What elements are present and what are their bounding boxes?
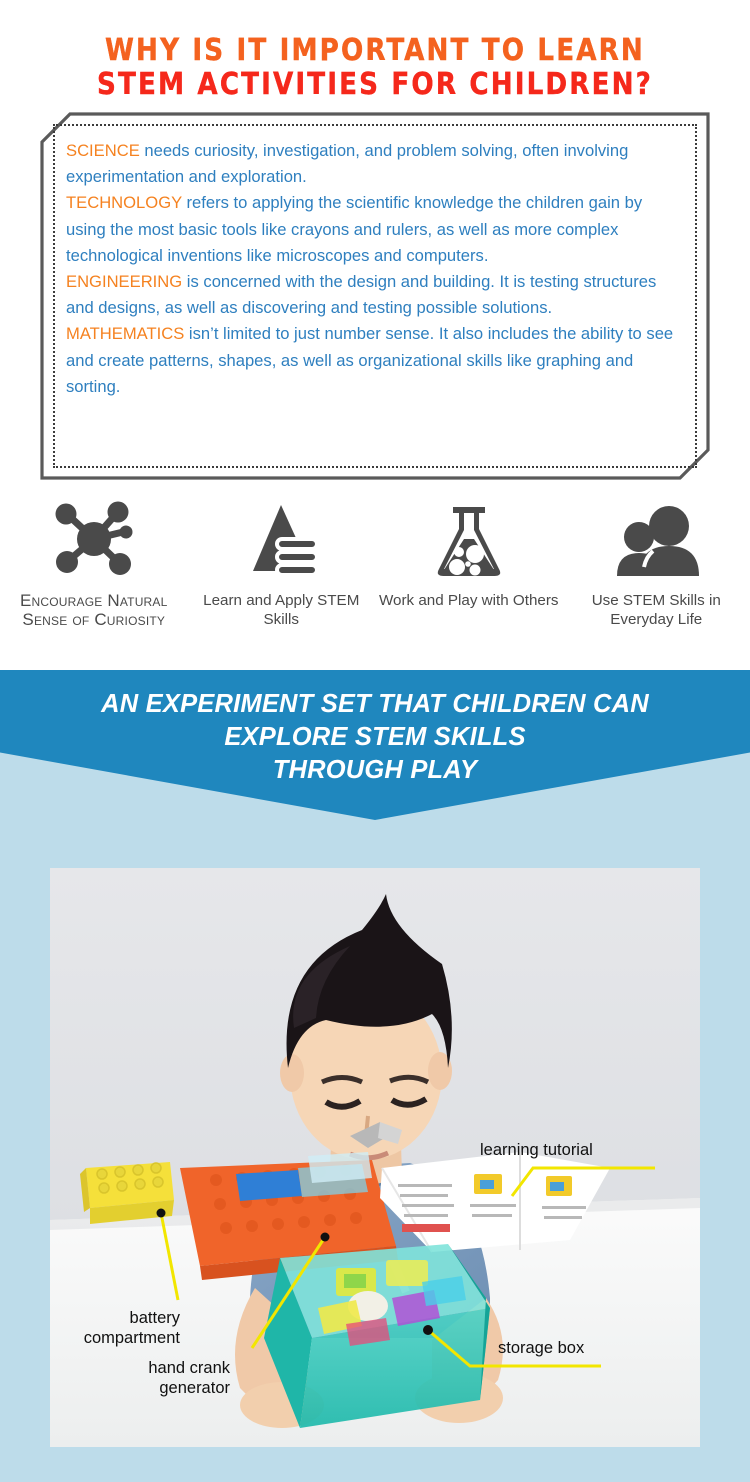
molecule-icon [51,497,137,579]
banner-heading-line-2: EXPLORE STEM SKILLS [0,721,750,754]
feature-work-play-label: Work and Play with Others [379,591,559,610]
callout-label-hand-crank-generator: hand crank generator [70,1358,230,1398]
stem-product-infographic: WHY IS IT IMPORTANT TO LEARN STEM ACTIVI… [0,0,750,1482]
feature-encourage-curiosity: Encourage Natural Sense of Curiosity [0,497,188,629]
feature-everyday-life: Use STEM Skills in Everyday Life [563,497,750,629]
banner-heading-line-3: THROUGH PLAY [0,754,750,787]
definition-science: SCIENCE needs curiosity, investigation, … [66,138,685,190]
feature-work-play: Work and Play with Others [375,497,563,629]
feature-learn-apply: Learn and Apply STEM Skills [188,497,376,629]
feature-everyday-life-label: Use STEM Skills in Everyday Life [563,591,750,629]
page-title-line-2: STEM ACTIVITIES FOR CHILDREN? [11,68,739,102]
feature-learn-apply-label: Learn and Apply STEM Skills [188,591,376,629]
stem-definitions-box: SCIENCE needs curiosity, investigation, … [40,112,710,480]
feature-icon-row: Encourage Natural Sense of Curiosity Lea… [0,497,750,629]
definition-technology: TECHNOLOGY refers to applying the scient… [66,190,685,269]
infobox-inner-dotted-border: SCIENCE needs curiosity, investigation, … [53,124,697,468]
definition-technology-keyword: TECHNOLOGY [66,193,182,212]
banner-heading-line-1: AN EXPERIMENT SET THAT CHILDREN CAN [0,688,750,721]
banner-heading: AN EXPERIMENT SET THAT CHILDREN CAN EXPL… [0,688,750,787]
callout-label-learning-tutorial: learning tutorial [480,1140,593,1160]
definition-engineering-keyword: ENGINEERING [66,272,182,291]
definition-mathematics: MATHEMATICS isn’t limited to just number… [66,321,685,400]
definition-science-keyword: SCIENCE [66,141,140,160]
definition-engineering: ENGINEERING is concerned with the design… [66,269,685,321]
callout-label-storage-box: storage box [498,1338,584,1358]
definition-science-body: needs curiosity, investigation, and prob… [66,141,628,186]
definition-mathematics-keyword: MATHEMATICS [66,324,184,343]
flask-icon [430,497,508,579]
page-title-line-1: WHY IS IT IMPORTANT TO LEARN [11,34,739,68]
page-title: WHY IS IT IMPORTANT TO LEARN STEM ACTIVI… [0,34,750,102]
book-stack-icon [241,497,321,579]
callout-label-battery-compartment: battery compartment [20,1308,180,1348]
people-icon [613,497,699,579]
feature-encourage-curiosity-label: Encourage Natural Sense of Curiosity [0,591,188,629]
